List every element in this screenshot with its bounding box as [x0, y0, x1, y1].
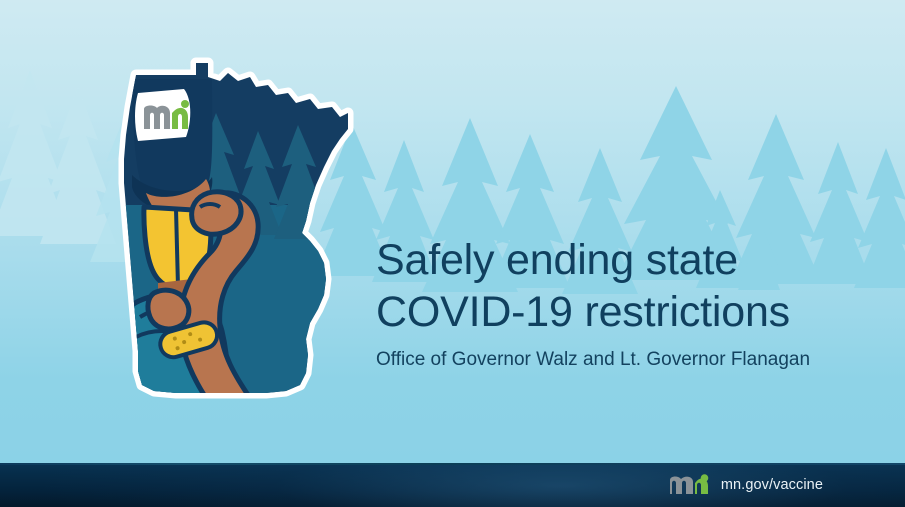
slide-subtitle: Office of Governor Walz and Lt. Governor…	[376, 348, 876, 372]
video-slide: Safely ending state COVID-19 restriction…	[0, 0, 905, 507]
minnesota-map-graphic	[96, 55, 396, 415]
footer-content: mn.gov/vaccine	[668, 463, 823, 507]
fist	[192, 192, 241, 234]
footer-bar: mn.gov/vaccine	[0, 463, 905, 507]
minnesota-illustration	[96, 55, 396, 415]
slide-title-line-1: Safely ending state	[376, 234, 876, 286]
mask-seam	[176, 209, 178, 287]
title-block: Safely ending state COVID-19 restriction…	[376, 234, 876, 372]
helping-hand	[148, 290, 189, 329]
mn-logo-icon	[668, 474, 710, 496]
slide-title-line-2: COVID-19 restrictions	[376, 286, 876, 338]
footer-url-text: mn.gov/vaccine	[721, 477, 823, 493]
